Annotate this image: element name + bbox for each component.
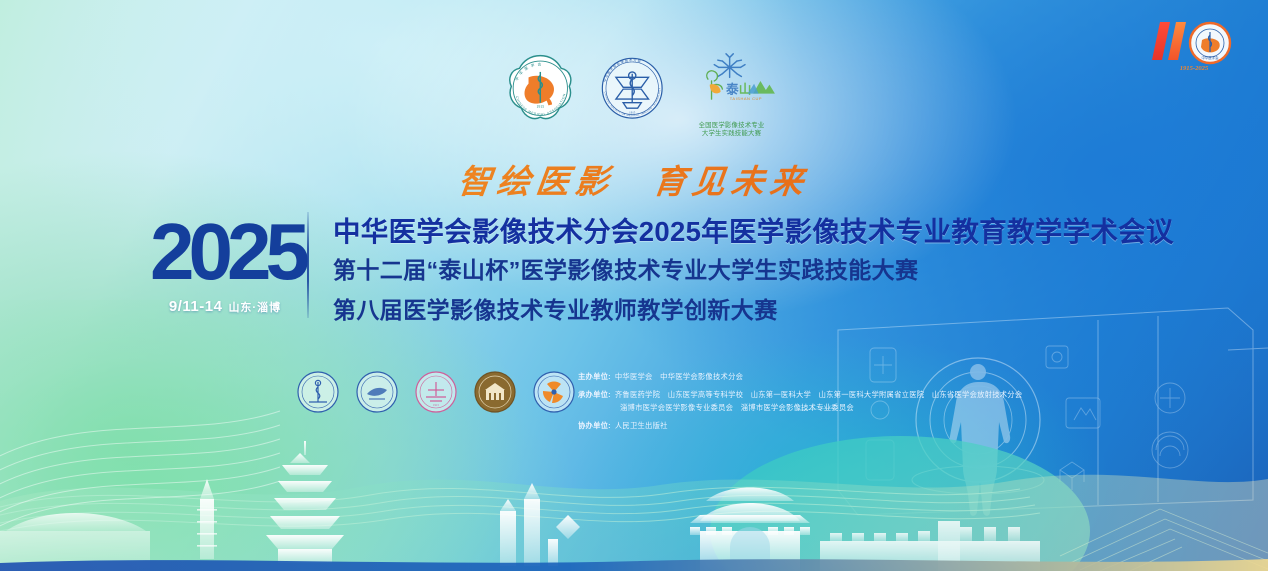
svg-text:1915: 1915 <box>629 111 636 115</box>
organizer-organizers: 承办单位:齐鲁医药学院 山东医学高等专科学校 山东第一医科大学 山东第一医科大学… <box>578 388 1008 415</box>
coorganizer-label: 协办单位: <box>578 421 611 430</box>
conference-date: 9/11-14山东·淄博 <box>150 298 300 315</box>
organizer-coorganizer: 协办单位:人民卫生出版社 <box>578 419 1008 433</box>
svg-text:中华医学会: 中华医学会 <box>1202 55 1220 60</box>
year-number: 2025 <box>150 210 300 294</box>
competition-title-teacher: 第八届医学影像技术专业教师教学创新大赛 <box>333 290 1173 330</box>
year-date-block: 2025 9/11-14山东·淄博 <box>150 210 300 328</box>
taishan-cup-logo: 泰 山 TAISHAN CUP 全国医学影像技术专业 大学生实践技能大赛 <box>688 52 775 136</box>
institution-seal-sdfmu: 1915 <box>414 370 458 414</box>
conference-banner: 1915 中 华 医 学 会 CHINESE MEDICAL ASSOCIATI… <box>0 0 1268 571</box>
top-logo-group: 1915 中 华 医 学 会 CHINESE MEDICAL ASSOCIATI… <box>505 52 775 140</box>
background-glow-green <box>0 300 580 571</box>
svg-text:山: 山 <box>739 82 752 97</box>
organizer-label: 承办单位: <box>578 390 611 399</box>
institution-seal-provincial-hospital <box>473 370 517 414</box>
conference-slogan: 智绘医影 育见未来 <box>0 155 1268 203</box>
institution-seal-radiology-branch <box>532 370 576 414</box>
organizer-host: 主办单位:中华医学会 中华医学会影像技术分会 <box>578 370 1008 384</box>
host-text: 中华医学会 中华医学会影像技术分会 <box>615 372 743 381</box>
conference-title: 中华医学会影像技术分会2025年医学影像技术专业教育教学学术会议 <box>333 214 1173 250</box>
taishan-cup-subtitle: 全国医学影像技术专业 大学生实践技能大赛 <box>688 122 775 138</box>
institution-seal-qilu <box>296 370 340 414</box>
svg-text:泰: 泰 <box>725 82 739 97</box>
svg-text:1915: 1915 <box>433 403 440 407</box>
organizer-text-line1: 齐鲁医药学院 山东医学高等专科学校 山东第一医科大学 山东第一医科大学附属省立医… <box>615 390 1023 399</box>
coorganizer-text: 人民卫生出版社 <box>615 421 668 430</box>
background-glow-cyan <box>560 330 1120 571</box>
institution-seal-shandong-college <box>355 370 399 414</box>
svg-text:TAISHAN CUP: TAISHAN CUP <box>730 96 762 101</box>
anniversary-years: 1915-2025 <box>1180 65 1209 72</box>
svg-text:1915: 1915 <box>537 105 545 109</box>
organizer-text-line2: 淄博市医学会医学影像专业委员会 淄博市医学会影像技术专业委员会 <box>620 403 854 412</box>
imaging-technology-branch-logo: 1915 中华医学会影像技术分会 CHINESE SOCIETY OF MEDI… <box>596 52 668 132</box>
host-label: 主办单位: <box>578 372 611 381</box>
competition-title-student: 第十二届“泰山杯”医学影像技术专业大学生实践技能大赛 <box>333 250 1173 290</box>
date-range: 9/11-14 <box>169 298 223 315</box>
title-group: 中华医学会影像技术分会2025年医学影像技术专业教育教学学术会议 第十二届“泰山… <box>333 214 1173 330</box>
anniversary-110-logo: 中华医学会 1915-2025 <box>1138 16 1250 74</box>
institution-seal-row: 1915 <box>296 370 576 414</box>
organizer-list: 主办单位:中华医学会 中华医学会影像技术分会 承办单位:齐鲁医药学院 山东医学高… <box>578 370 1008 436</box>
conference-location: 山东·淄博 <box>228 302 281 314</box>
cma-logo: 1915 中 华 医 学 会 CHINESE MEDICAL ASSOCIATI… <box>505 52 576 134</box>
title-divider <box>307 212 309 318</box>
